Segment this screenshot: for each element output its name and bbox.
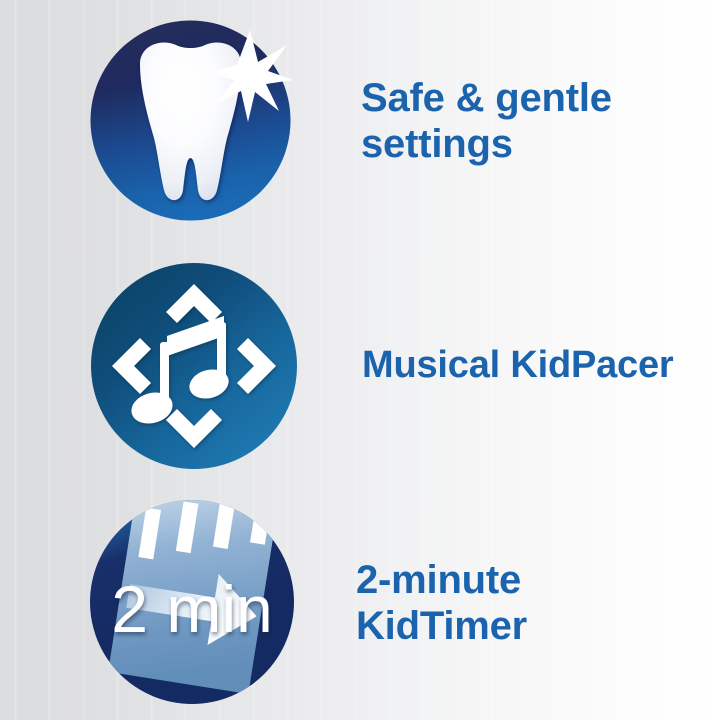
timer-band-arrow-icon: 2 min (88, 498, 296, 706)
feature-row-two-minute-kidtimer: 2 min 2-minute KidTimer (88, 498, 527, 706)
feature-highlight-panel: Safe & gentle settings (0, 0, 720, 720)
music-note-arrows-icon (88, 260, 300, 472)
feature-label-two-minute-kidtimer: 2-minute KidTimer (356, 558, 527, 649)
timer-caption: 2 min (111, 572, 272, 646)
tooth-sparkle-icon (88, 18, 293, 223)
feature-row-musical-kidpacer: Musical KidPacer (88, 260, 674, 472)
feature-row-safe-gentle-settings: Safe & gentle settings (88, 18, 612, 223)
feature-label-musical-kidpacer: Musical KidPacer (362, 344, 674, 387)
feature-label-safe-gentle-settings: Safe & gentle settings (361, 76, 612, 167)
